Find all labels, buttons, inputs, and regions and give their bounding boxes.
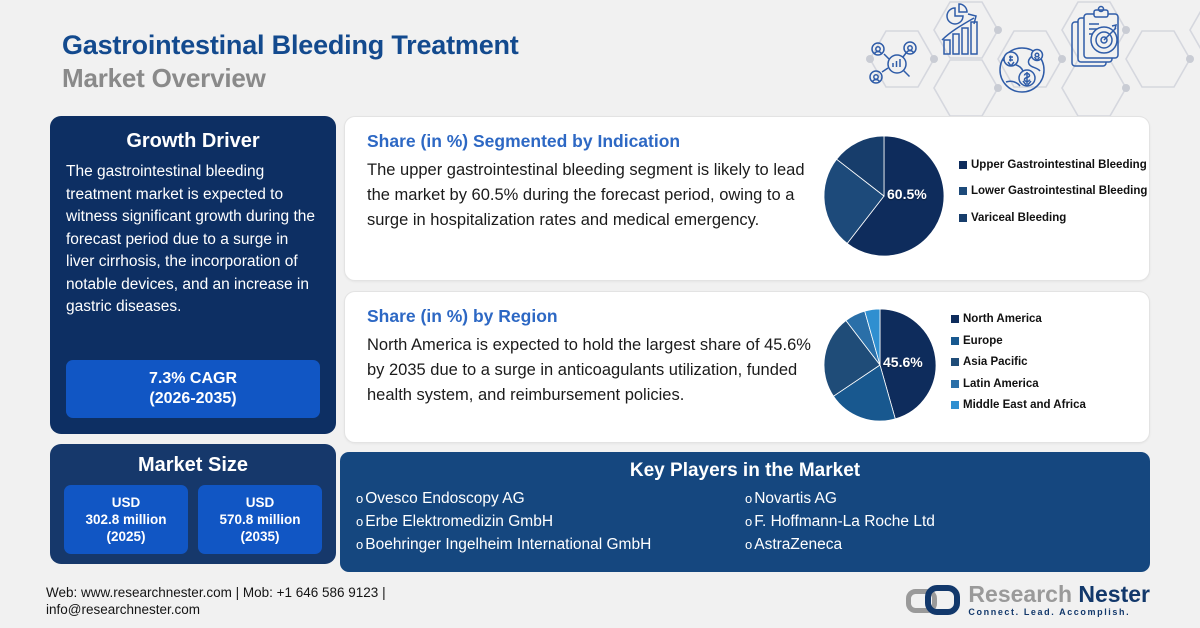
key-player-item: oBoehringer Ingelheim International GmbH [356,533,745,556]
region-legend-item: Europe [951,335,1086,349]
key-player-item: oErbe Elektromedizin GmbH [356,510,745,533]
indication-card-body: The upper gastrointestinal bleeding segm… [367,158,815,233]
indication-legend-item: Variceal Bleeding [959,212,1147,226]
footer-line-email: info@researchnester.com [46,601,566,618]
legend-color-swatch [951,358,959,366]
legend-color-swatch [959,187,967,195]
key-player-name: Ovesco Endoscopy AG [365,487,524,510]
region-legend-item: North America [951,313,1086,327]
cagr-period: (2026-2035) [70,389,316,409]
page-header: Gastrointestinal Bleeding Treatment Mark… [62,28,519,95]
people-network-analysis-icon [870,42,916,83]
legend-color-swatch [959,161,967,169]
market-size-currency: USD [200,494,320,511]
globe-dollar-icon [1000,48,1044,92]
region-legend-item: Middle East and Africa [951,399,1086,413]
indication-legend-item: Upper Gastrointestinal Bleeding [959,159,1147,173]
market-size-year: (2035) [200,528,320,545]
key-player-item: oAstraZeneca [745,533,1134,556]
market-size-value: 302.8 million [66,511,186,528]
key-player-item: oOvesco Endoscopy AG [356,487,745,510]
legend-label: Lower Gastrointestinal Bleeding [971,185,1147,199]
indication-legend-item: Lower Gastrointestinal Bleeding [959,185,1147,199]
key-player-name: F. Hoffmann-La Roche Ltd [754,510,935,533]
indication-share-card: Share (in %) Segmented by Indication The… [344,116,1150,281]
region-card-body: North America is expected to hold the la… [367,333,815,408]
key-players-card: Key Players in the Market oOvesco Endosc… [340,452,1150,572]
logo-links-icon [906,584,960,616]
key-player-name: Erbe Elektromedizin GmbH [365,510,553,533]
legend-label: Variceal Bleeding [971,212,1066,226]
market-size-box: USD 570.8 million (2035) [198,485,322,554]
region-share-card: Share (in %) by Region North America is … [344,291,1150,443]
growth-driver-title: Growth Driver [66,130,320,153]
bullet-icon: o [356,487,363,510]
key-players-left-column: oOvesco Endoscopy AGoErbe Elektromedizin… [356,487,745,556]
footer-contact: Web: www.researchnester.com | Mob: +1 64… [46,584,566,618]
key-players-right-column: oNovartis AGoF. Hoffmann-La Roche LtdoAs… [745,487,1134,556]
legend-color-swatch [951,401,959,409]
legend-label: Europe [963,335,1003,349]
logo-wordmark: Research Nester [968,582,1150,606]
logo-word-research: Research [968,581,1072,607]
clipboard-target-icon [1072,7,1118,67]
legend-color-swatch [951,315,959,323]
bullet-icon: o [356,510,363,533]
page-subtitle: Market Overview [62,62,519,95]
indication-pie-chart: 60.5% [821,133,947,264]
legend-label: Upper Gastrointestinal Bleeding [971,159,1147,173]
indication-legend: Upper Gastrointestinal BleedingLower Gas… [959,159,1147,239]
cagr-badge: 7.3% CAGR (2026-2035) [66,360,320,418]
market-size-box: USD 302.8 million (2025) [64,485,188,554]
legend-label: North America [963,313,1042,327]
market-size-title: Market Size [64,454,322,477]
bullet-icon: o [745,533,752,556]
key-player-item: oF. Hoffmann-La Roche Ltd [745,510,1134,533]
key-player-item: oNovartis AG [745,487,1134,510]
left-column: Growth Driver The gastrointestinal bleed… [50,116,336,564]
legend-label: Middle East and Africa [963,399,1086,413]
key-player-name: Boehringer Ingelheim International GmbH [365,533,651,556]
hex-network-svg [840,0,1200,118]
logo-tagline: Connect. Lead. Accomplish. [968,607,1150,617]
bar-chart-growth-icon [942,4,977,54]
market-size-card: Market Size USD 302.8 million (2025) USD… [50,444,336,564]
research-nester-logo: Research Nester Connect. Lead. Accomplis… [906,582,1150,617]
bullet-icon: o [745,487,752,510]
footer-line-web: Web: www.researchnester.com | Mob: +1 64… [46,584,566,601]
logo-word-nester: Nester [1078,581,1150,607]
region-legend-item: Asia Pacific [951,356,1086,370]
indication-card-heading: Share (in %) Segmented by Indication [367,131,815,152]
key-players-title: Key Players in the Market [340,460,1150,482]
legend-color-swatch [951,337,959,345]
hexagon-decoration [840,0,1200,118]
bullet-icon: o [745,510,752,533]
region-pie-chart: 45.6% [821,306,939,429]
cagr-value: 7.3% CAGR [70,369,316,389]
legend-label: Asia Pacific [963,356,1028,370]
region-legend-item: Latin America [951,378,1086,392]
growth-driver-text: The gastrointestinal bleeding treatment … [66,161,320,319]
legend-color-swatch [959,214,967,222]
growth-driver-card: Growth Driver The gastrointestinal bleed… [50,116,336,434]
indication-pie-data-label: 60.5% [887,186,927,202]
market-size-value: 570.8 million [200,511,320,528]
page-title: Gastrointestinal Bleeding Treatment [62,28,519,62]
region-pie-data-label: 45.6% [883,354,923,370]
market-size-currency: USD [66,494,186,511]
region-legend: North AmericaEuropeAsia PacificLatin Ame… [951,313,1086,421]
key-player-name: Novartis AG [754,487,837,510]
market-size-year: (2025) [66,528,186,545]
bullet-icon: o [356,533,363,556]
indication-pie-svg [821,133,947,259]
key-player-name: AstraZeneca [754,533,842,556]
legend-label: Latin America [963,378,1039,392]
region-card-heading: Share (in %) by Region [367,306,815,327]
market-size-boxes: USD 302.8 million (2025) USD 570.8 milli… [64,485,322,554]
legend-color-swatch [951,380,959,388]
